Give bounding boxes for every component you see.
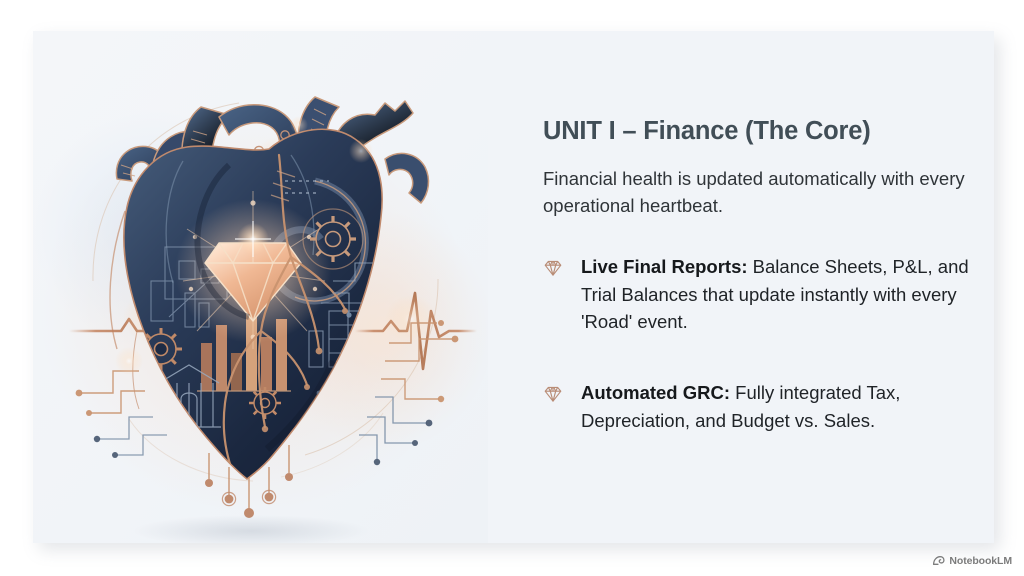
page-title: UNIT I – Finance (The Core) <box>543 117 983 146</box>
notebooklm-spiral-icon <box>932 554 945 567</box>
slide-card: UNIT I – Finance (The Core) Financial he… <box>33 31 994 543</box>
list-item-lead: Automated GRC: <box>581 382 730 403</box>
notebooklm-watermark: NotebookLM <box>932 554 1012 567</box>
slide-stage: UNIT I – Finance (The Core) Financial he… <box>0 0 1024 576</box>
list-item: Automated GRC: Fully integrated Tax, Dep… <box>541 379 971 434</box>
diamond-gem-icon <box>541 382 565 406</box>
list-item-text: Automated GRC: Fully integrated Tax, Dep… <box>581 379 971 434</box>
notebooklm-label: NotebookLM <box>949 555 1012 567</box>
list-item-lead: Live Final Reports: <box>581 256 748 277</box>
list-item-text: Live Final Reports: Balance Sheets, P&L,… <box>581 253 971 336</box>
anatomical-heart-fintech-illustration <box>33 31 488 543</box>
diamond-gem-icon <box>541 256 565 280</box>
slide-text-column: UNIT I – Finance (The Core) Financial he… <box>510 31 994 543</box>
list-item: Live Final Reports: Balance Sheets, P&L,… <box>541 253 971 336</box>
slide-subtitle: Financial health is updated automaticall… <box>543 165 968 219</box>
